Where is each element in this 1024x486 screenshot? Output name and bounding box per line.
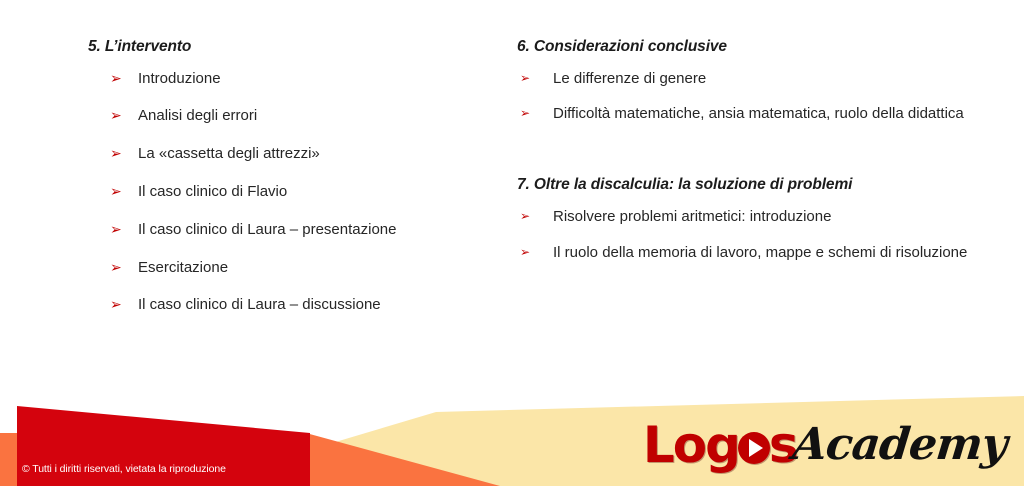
list-item: ➢ Esercitazione — [88, 258, 498, 278]
arrow-bullet-icon: ➢ — [110, 107, 122, 125]
play-triangle-icon — [749, 439, 763, 457]
list-item: ➢ Analisi degli errori — [88, 106, 498, 126]
logo-text-academy: Academy — [790, 423, 1008, 467]
list-item: ➢ Il caso clinico di Flavio — [88, 182, 498, 202]
play-icon — [738, 432, 770, 464]
list-item-label: Difficoltà matematiche, ansia matematica… — [553, 105, 964, 122]
arrow-bullet-icon: ➢ — [520, 71, 530, 87]
slide-content: 5. L’intervento ➢ Introduzione ➢ Analisi… — [0, 0, 1024, 380]
arrow-bullet-icon: ➢ — [110, 259, 122, 277]
section-6: 6. Considerazioni conclusive ➢ Le differ… — [517, 38, 987, 124]
list-item: ➢ Risolvere problemi aritmetici: introdu… — [517, 207, 987, 227]
arrow-bullet-icon: ➢ — [520, 209, 530, 225]
arrow-bullet-icon: ➢ — [110, 70, 122, 88]
list-item-label: Il caso clinico di Laura – discussione — [138, 296, 381, 313]
copyright-text: © Tutti i diritti riservati, vietata la … — [22, 464, 226, 475]
list-item: ➢ Difficoltà matematiche, ansia matemati… — [517, 104, 987, 124]
list-item-label: Esercitazione — [138, 259, 228, 276]
section-7: 7. Oltre la discalculia: la soluzione di… — [517, 176, 987, 262]
bullet-list-6: ➢ Le differenze di genere ➢ Difficoltà m… — [517, 69, 987, 125]
section-heading-7: 7. Oltre la discalculia: la soluzione di… — [517, 176, 987, 195]
list-item-label: Risolvere problemi aritmetici: introduzi… — [553, 208, 831, 225]
bullet-list-5: ➢ Introduzione ➢ Analisi degli errori ➢ … — [88, 69, 498, 316]
arrow-bullet-icon: ➢ — [520, 245, 530, 261]
list-item-label: Il ruolo della memoria di lavoro, mappe … — [553, 244, 967, 261]
content-column-right: 6. Considerazioni conclusive ➢ Le differ… — [517, 38, 987, 278]
slide-canvas: 5. L’intervento ➢ Introduzione ➢ Analisi… — [0, 0, 1024, 486]
arrow-bullet-icon: ➢ — [110, 221, 122, 239]
list-item: ➢ Il caso clinico di Laura – discussione — [88, 295, 498, 315]
list-item: ➢ Introduzione — [88, 69, 498, 89]
section-heading-5: 5. L’intervento — [88, 38, 498, 57]
content-column-left: 5. L’intervento ➢ Introduzione ➢ Analisi… — [88, 38, 498, 333]
list-item: ➢ Il caso clinico di Laura – presentazio… — [88, 220, 498, 240]
section-heading-6: 6. Considerazioni conclusive — [517, 38, 987, 57]
list-item: ➢ Il ruolo della memoria di lavoro, mapp… — [517, 243, 987, 263]
list-item-label: Le differenze di genere — [553, 70, 706, 87]
list-item-label: Il caso clinico di Laura – presentazione — [138, 221, 397, 238]
list-item: ➢ La «cassetta degli attrezzi» — [88, 144, 498, 164]
arrow-bullet-icon: ➢ — [110, 296, 122, 314]
list-item-label: Analisi degli errori — [138, 107, 257, 124]
list-item-label: Introduzione — [138, 70, 221, 87]
logo-wordmark: Log s — [643, 420, 797, 470]
footer-banner: © Tutti i diritti riservati, vietata la … — [0, 376, 1024, 486]
arrow-bullet-icon: ➢ — [520, 106, 530, 122]
logo-text-log: Log — [643, 416, 739, 474]
arrow-bullet-icon: ➢ — [110, 183, 122, 201]
list-item-label: Il caso clinico di Flavio — [138, 183, 287, 200]
list-item-label: La «cassetta degli attrezzi» — [138, 145, 320, 162]
arrow-bullet-icon: ➢ — [110, 145, 122, 163]
list-item: ➢ Le differenze di genere — [517, 69, 987, 89]
section-5: 5. L’intervento ➢ Introduzione ➢ Analisi… — [88, 38, 498, 315]
bullet-list-7: ➢ Risolvere problemi aritmetici: introdu… — [517, 207, 987, 263]
logo-logos-academy: Log s Academy — [643, 416, 1006, 474]
